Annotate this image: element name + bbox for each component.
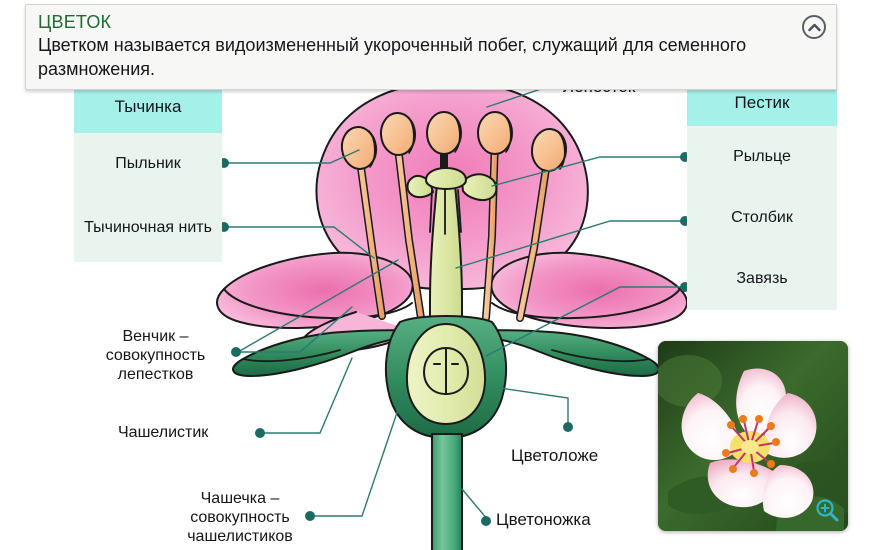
- leader-dot-receptacle: [563, 422, 573, 432]
- panel-body-stamen: Пыльник Тычиночная нить: [74, 133, 222, 262]
- label-corolla[interactable]: Венчик – совокупность лепестков: [78, 327, 233, 384]
- panel-row-anther[interactable]: Пыльник: [74, 133, 222, 193]
- label-receptacle[interactable]: Цветоложе: [511, 446, 598, 465]
- panel-row-stigma[interactable]: Рыльце: [687, 126, 837, 187]
- label-pedicel[interactable]: Цветоножка: [496, 510, 591, 529]
- panel-row-ovary[interactable]: Завязь: [687, 248, 837, 309]
- leader-dot-pedicel: [481, 516, 491, 526]
- chevron-up-icon: [808, 23, 821, 32]
- banner-title: ЦВЕТОК: [38, 11, 824, 33]
- magnifier-plus-icon[interactable]: [814, 497, 840, 523]
- slide-canvas: Тычинка Пыльник Тычиночная нить Пестик Р…: [0, 0, 880, 550]
- collapse-button[interactable]: [802, 15, 826, 39]
- flower-photo-thumbnail[interactable]: [658, 341, 848, 531]
- panel-row-filament[interactable]: Тычиночная нить: [74, 193, 222, 262]
- label-sepal[interactable]: Чашелистик: [118, 423, 208, 442]
- banner-description: Цветком называется видоизмененный укороч…: [38, 33, 824, 81]
- leader-dot-sepal: [255, 428, 265, 438]
- label-calyx[interactable]: Чашечка – совокупность чашелистиков: [160, 489, 320, 546]
- panel-body-pistil: Рыльце Столбик Завязь: [687, 126, 837, 310]
- pistil-label-panel: Пестик Рыльце Столбик Завязь: [687, 80, 837, 310]
- info-banner: ЦВЕТОК Цветком называется видоизмененный…: [25, 4, 837, 90]
- panel-row-style[interactable]: Столбик: [687, 187, 837, 248]
- stamen-label-panel: Тычинка Пыльник Тычиночная нить: [74, 80, 222, 262]
